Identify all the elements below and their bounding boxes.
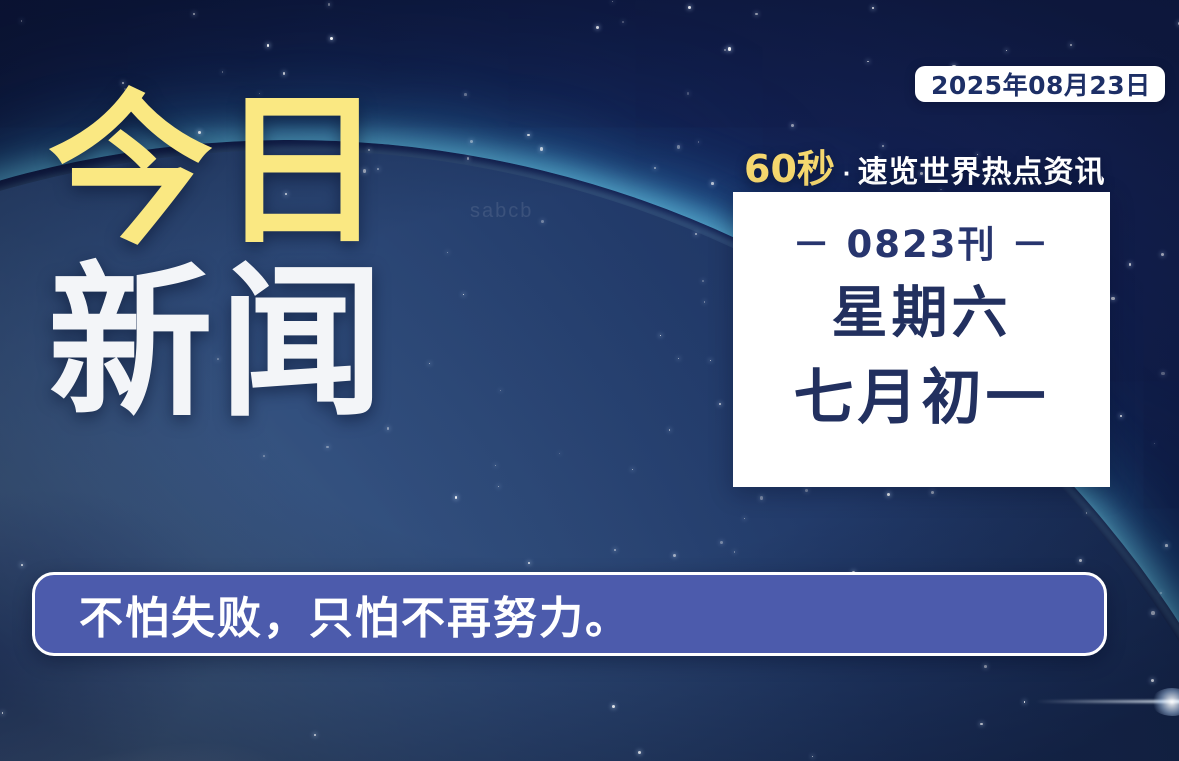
page-title: 今日 新闻 <box>48 92 390 423</box>
news-poster: sabcb 今日 新闻 2025年08月23日 60秒 · 速览世界热点资讯 －… <box>0 0 1179 761</box>
tagline: 60秒 · 速览世界热点资讯 <box>744 138 1106 193</box>
quote-bar: 不怕失败，只怕不再努力。 <box>32 572 1107 656</box>
tagline-text: 速览世界热点资讯 <box>858 147 1106 191</box>
quote-text: 不怕失败，只怕不再努力。 <box>79 582 631 646</box>
calendar-card: － 0823刊 － 星期六 七月初一 <box>733 192 1110 487</box>
page-title-line-1: 今日 <box>48 92 390 250</box>
issue-number: － 0823刊 － <box>793 214 1051 268</box>
lunar-date-label: 七月初一 <box>794 368 1050 428</box>
tagline-seconds: 60秒 <box>744 138 835 193</box>
page-title-line-2: 新闻 <box>48 264 390 422</box>
weekday-label: 星期六 <box>832 286 1012 342</box>
date-badge: 2025年08月23日 <box>915 66 1165 102</box>
tagline-separator-dot: · <box>843 158 852 189</box>
